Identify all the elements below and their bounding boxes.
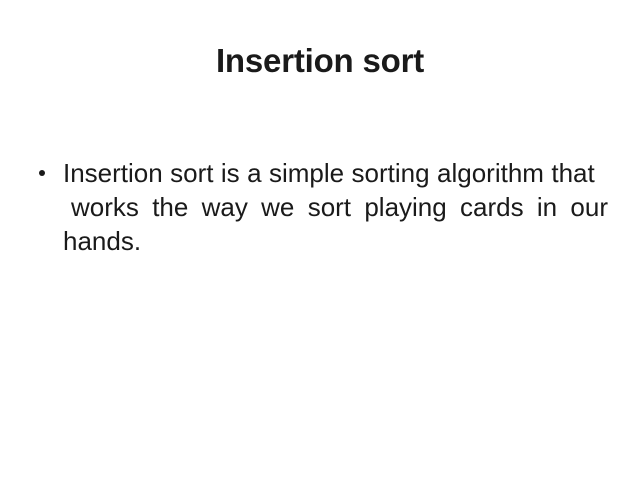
bullet-line-2: works the way we sort playing cards in o… — [63, 190, 608, 224]
bullet-line-3: hands. — [63, 224, 608, 258]
page-title: Insertion sort — [0, 41, 640, 81]
bullet-dot-icon — [39, 170, 45, 176]
list-item: Insertion sort is a simple sorting algor… — [36, 156, 608, 258]
bullet-paragraph: Insertion sort is a simple sorting algor… — [63, 156, 608, 258]
slide-body: Insertion sort is a simple sorting algor… — [36, 156, 608, 258]
bullet-line-1: Insertion sort is a simple sorting algor… — [63, 156, 608, 190]
slide-canvas: Insertion sort Insertion sort is a simpl… — [0, 0, 640, 480]
